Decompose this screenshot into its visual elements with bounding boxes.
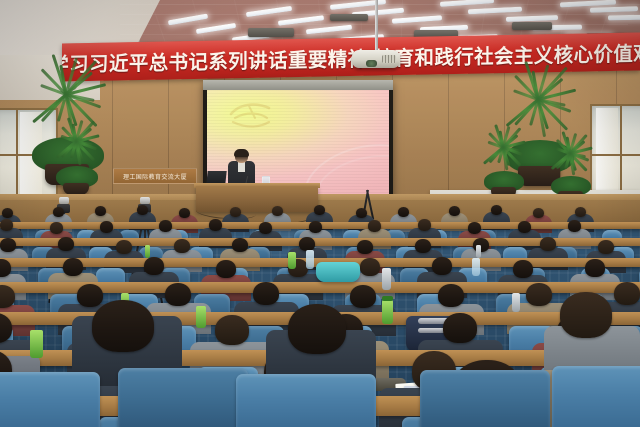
backpack-cyan [316,262,360,282]
audience-head [95,206,106,216]
ac-vent [512,22,552,30]
audience-head [614,282,640,305]
foreground-seat-right-2[interactable] [552,366,640,427]
lecture-hall-photo: 学习习近平总书记系列讲话重要精神 培育和践行社会主义核心价值观 理工国际教育交流… [0,0,640,427]
audience-head [63,258,83,276]
audience-head [443,313,477,343]
foreground-seat-left-2[interactable] [118,368,248,427]
water-bottle-clear-2 [472,258,480,276]
audience-head [2,208,13,218]
audience-head [174,239,190,253]
audience-head [144,257,164,275]
thermos-steel [382,268,391,290]
audience-head [350,285,376,308]
audience-head [518,221,531,233]
water-bottle-clear [306,250,314,269]
water-bottle-green-4 [30,330,43,358]
foreground-seat-left[interactable] [0,372,100,427]
foreground-seat-center[interactable] [236,374,376,427]
audience-head [58,237,74,251]
foreground-head-4 [560,292,612,338]
audience-head [215,315,249,345]
audience-head [526,283,552,306]
audience-head [468,222,481,234]
audience-head [179,208,190,218]
water-bottle [145,245,150,259]
audience-head [356,208,367,218]
projector-lens-icon [366,60,377,67]
audience-head [272,206,283,216]
audience-head [513,260,533,278]
audience-head [253,282,279,305]
video-camera-icon [59,197,69,204]
audience-head [100,221,113,233]
projector-vent-icon [382,55,396,63]
audience-head [216,260,236,278]
wall-sign-text: 理工国际教育交流大厦 [123,172,187,181]
water-bottle-green-3 [288,252,296,269]
ac-vent [330,14,368,21]
audience-head [398,207,409,217]
audience-head [357,240,373,254]
water-bottle [476,245,481,259]
foreground-head-1 [92,300,154,352]
audience-head [77,284,103,307]
bottle-cap-green [382,296,393,301]
audience-head [137,205,148,215]
audience-head [116,240,132,254]
audience-head [314,205,325,215]
audience-head [533,208,544,218]
water-bottle-green [382,300,393,324]
audience-head [432,257,452,275]
audience-head [0,219,13,231]
audience-head [438,284,464,307]
audience-head [165,283,191,306]
audience-head [418,219,431,231]
audience-head [209,219,222,231]
audience-head [598,240,614,254]
projector-mount-pole [375,0,378,52]
audience-head [491,205,502,215]
audience-head [568,220,581,232]
potted-palm-right-2 [480,134,528,200]
audience-head [53,207,64,217]
potted-palm-left-2 [52,128,102,196]
foreground-seat-right[interactable] [420,370,550,427]
audience-head [159,220,172,232]
audience-head [368,220,381,232]
audience-head [299,237,315,251]
audience-head [259,222,272,234]
banner-text: 学习习近平总书记系列讲话重要精神 培育和践行社会主义核心价值观 [62,37,640,78]
audience-head [415,239,431,253]
audience-head [309,221,322,233]
audience-head [232,238,248,252]
audience-head [575,207,586,217]
foreground-head-3 [288,304,346,354]
ceiling-projector [352,50,400,68]
video-camera-icon-2 [140,197,150,204]
water-bottle [512,293,519,313]
audience-head [540,237,556,251]
ac-vent [248,28,294,37]
audience-head [449,206,460,216]
water-bottle-green-2 [196,306,206,328]
screen-roller-bar [203,80,393,90]
audience-head [230,207,241,217]
wall-sign: 理工国际教育交流大厦 [113,168,197,184]
fluorescent-tube [608,15,640,21]
audience-head [50,222,63,234]
audience-head [585,259,605,277]
audience-head [0,238,16,252]
audience-head [360,258,380,276]
